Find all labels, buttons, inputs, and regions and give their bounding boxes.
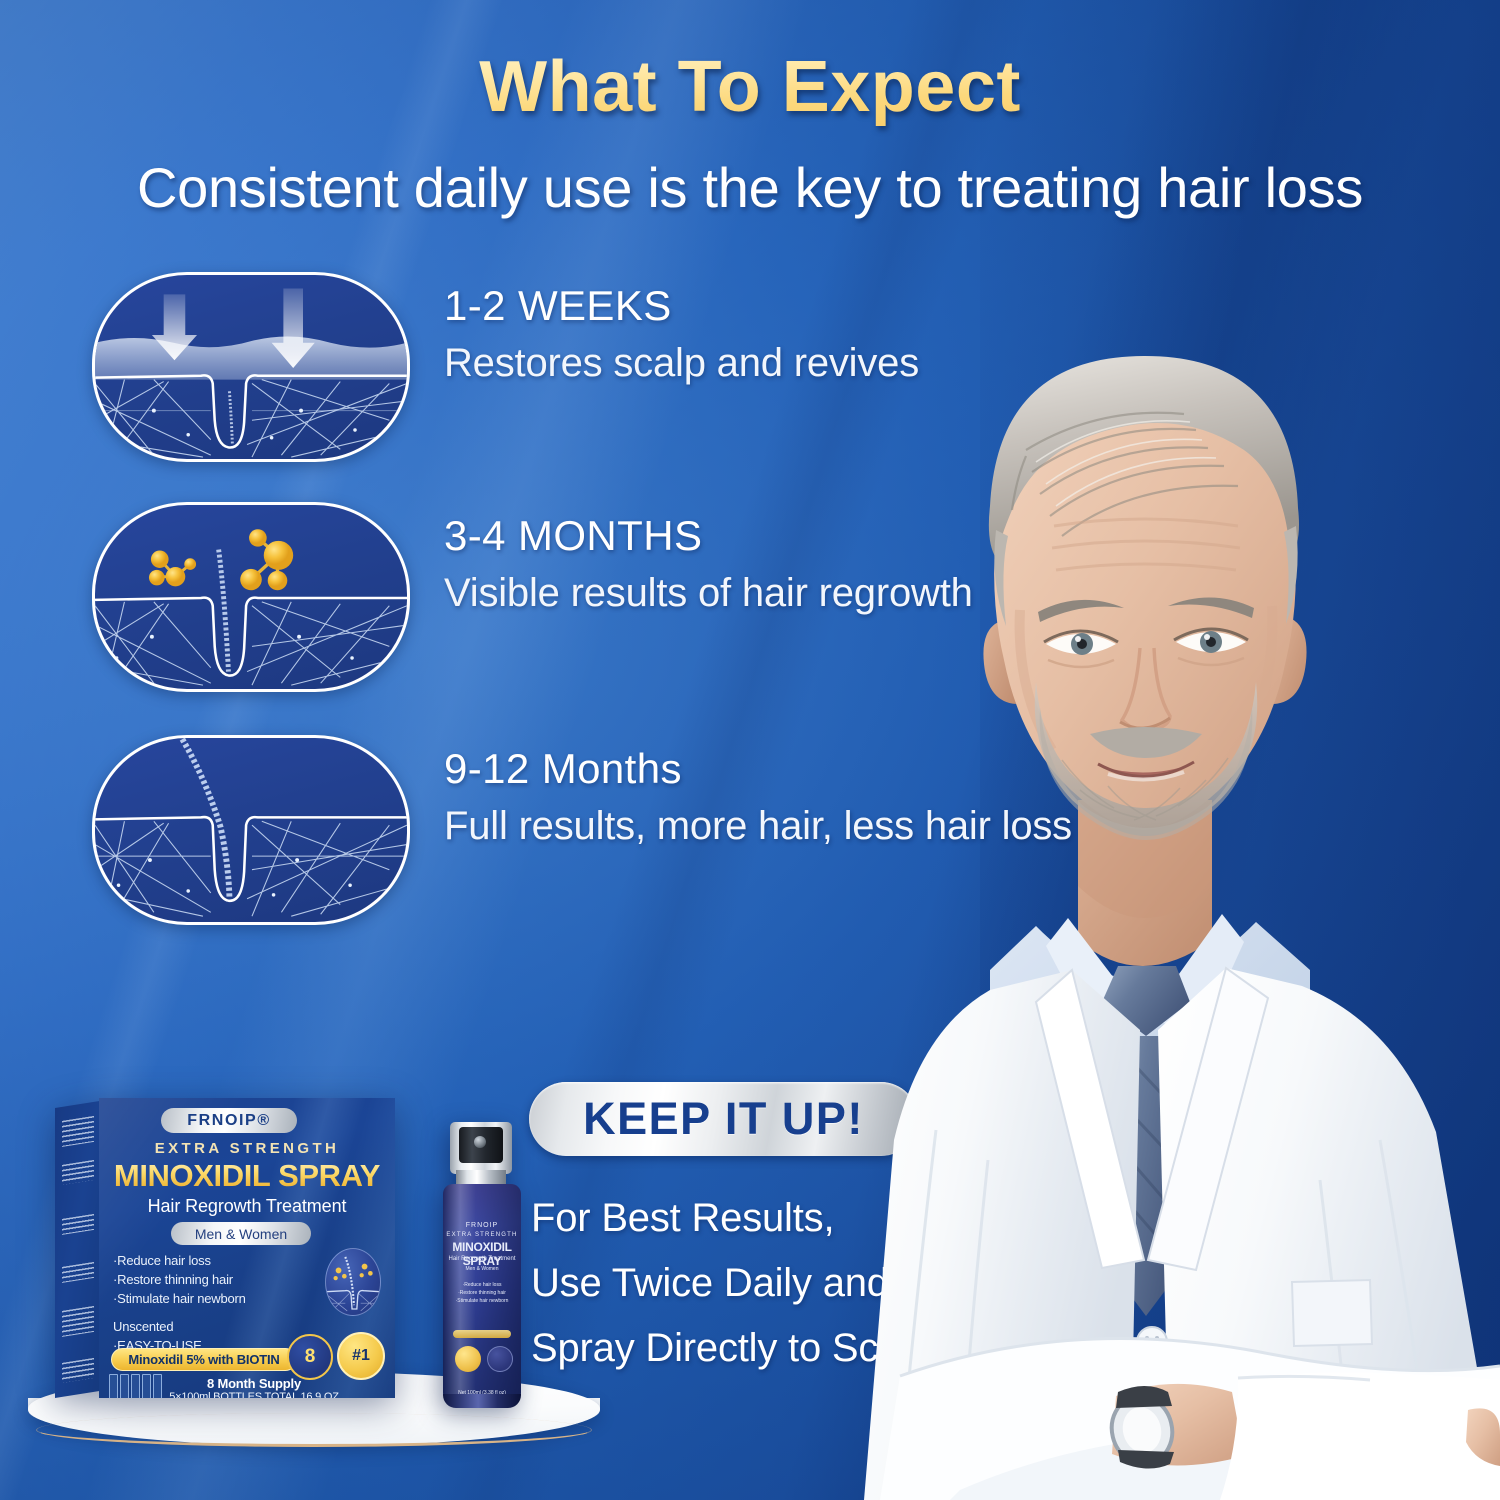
promo-image-canvas: What To Expect Consistent daily use is t… (0, 0, 1500, 1500)
eight-month-supply-seal: 8 (287, 1334, 333, 1380)
product-name-label: MINOXIDIL SPRAY (99, 1158, 395, 1194)
bottle-gold-seal (455, 1346, 481, 1372)
molecule-follicle-icon (92, 502, 410, 692)
page-title: What To Expect (0, 46, 1500, 128)
bottle-body: FRNOIP EXTRA STRENGTH MINOXIDIL SPRAY Ha… (443, 1184, 521, 1406)
product-benefit-item: ·Reduce hair loss (113, 1252, 273, 1271)
product-benefit-item: ·Restore thinning hair (113, 1271, 273, 1290)
follicle-illustration-badge (325, 1248, 381, 1316)
podium-gold-rim (36, 1413, 592, 1447)
doctor-photo (840, 330, 1500, 1500)
supply-seal-number: 8 (305, 1346, 316, 1368)
bottle-name-label: MINOXIDIL SPRAY (443, 1240, 521, 1268)
supply-info: 8 Month Supply 5×100ml BOTTLES TOTAL 16.… (159, 1376, 349, 1398)
product-strength-label: EXTRA STRENGTH (99, 1140, 395, 1157)
product-brand-label: FRNOIP® (187, 1112, 270, 1130)
active-ingredient-pill: Minoxidil 5% with BIOTIN (111, 1348, 297, 1371)
scalp-absorption-icon (92, 272, 410, 462)
bottle-base (443, 1394, 521, 1408)
rank-seal-label: #1 (352, 1347, 370, 1365)
list-spacer (113, 1309, 273, 1318)
product-brand-pill: FRNOIP® (161, 1108, 297, 1133)
product-box-side-panel (55, 1101, 101, 1398)
supply-duration-label: 8 Month Supply (159, 1376, 349, 1391)
spray-bottle: FRNOIP EXTRA STRENGTH MINOXIDIL SPRAY Ha… (434, 1118, 530, 1410)
product-feature-item: Unscented (113, 1318, 273, 1337)
bottle-brand-label: FRNOIP (443, 1222, 521, 1229)
timeline-step-heading: 1-2 WEEKS (444, 282, 1144, 330)
product-box-front: FRNOIP® EXTRA STRENGTH MINOXIDIL SPRAY H… (99, 1098, 395, 1398)
grown-hair-follicle-icon (92, 735, 410, 925)
product-audience-label: Men & Women (195, 1226, 287, 1242)
product-box: FRNOIP® EXTRA STRENGTH MINOXIDIL SPRAY H… (55, 1098, 395, 1398)
keep-it-up-label: KEEP IT UP! (583, 1093, 864, 1145)
bottle-tagline-label: Hair Regrowth Treatment (443, 1256, 521, 1262)
bottle-audience-label: Men & Women (443, 1266, 521, 1272)
page-subtitle: Consistent daily use is the key to treat… (0, 155, 1500, 220)
product-tagline-label: Hair Regrowth Treatment (99, 1196, 395, 1217)
product-audience-pill: Men & Women (171, 1222, 311, 1245)
number-one-seal: #1 (337, 1332, 385, 1380)
bottle-gold-accent (453, 1330, 511, 1338)
bottle-benefits-label: ·Reduce hair loss ·Restore thinning hair… (443, 1282, 521, 1305)
bottles-total-label: 5×100ml BOTTLES TOTAL 16.9 OZ (159, 1391, 349, 1398)
bottle-strength-label: EXTRA STRENGTH (443, 1232, 521, 1238)
bottle-nozzle-opening (474, 1136, 486, 1148)
mini-bottles-graphic (109, 1374, 163, 1398)
product-benefit-item: ·Stimulate hair newborn (113, 1290, 273, 1309)
bottle-blue-seal (487, 1346, 513, 1372)
active-ingredient-label: Minoxidil 5% with BIOTIN (128, 1352, 279, 1367)
